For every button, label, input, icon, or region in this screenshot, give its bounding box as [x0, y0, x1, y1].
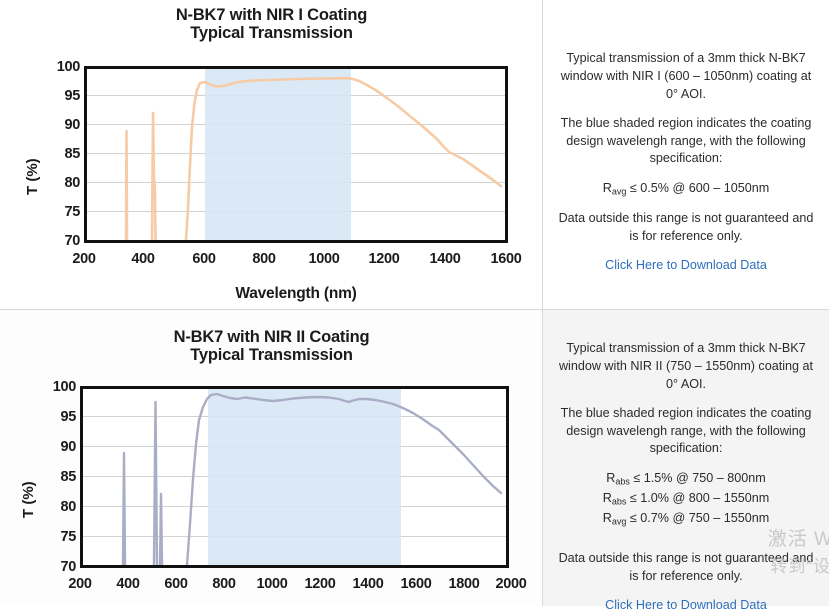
nir2-plot-area — [80, 386, 509, 568]
spec-list: Rabs ≤ 1.5% @ 750 – 800nm Rabs ≤ 1.0% @ … — [557, 469, 815, 528]
xtick-label: 400 — [121, 251, 165, 267]
spec-item: Ravg ≤ 0.5% @ 600 – 1050nm — [557, 179, 815, 199]
nir2-panel-row: N-BK7 with NIR II Coating Typical Transm… — [0, 310, 829, 606]
chart-title-line2: Typical Transmission — [0, 346, 543, 364]
ytick-label: 85 — [44, 146, 80, 162]
spec-value: ≤ 1.5% @ 750 – 800nm — [630, 471, 766, 485]
xtick-label: 1400 — [343, 576, 393, 592]
y-axis-label: T (%) — [24, 158, 41, 195]
xtick-label: 200 — [58, 576, 102, 592]
info-description: Typical transmission of a 3mm thick N-BK… — [557, 340, 815, 394]
nir1-transmission-curve — [87, 69, 505, 240]
spec-subscript: abs — [612, 496, 627, 506]
info-shade-explanation: The blue shaded region indicates the coa… — [557, 405, 815, 459]
xtick-label: 2000 — [486, 576, 536, 592]
ytick-label: 95 — [40, 409, 76, 425]
x-axis-label: Wavelength (nm) — [84, 285, 508, 303]
nir1-chart-panel: N-BK7 with NIR I Coating Typical Transmi… — [0, 0, 543, 310]
ytick-label: 80 — [44, 175, 80, 191]
download-data-link[interactable]: Click Here to Download Data — [605, 598, 767, 612]
ytick-label: 80 — [40, 499, 76, 515]
spec-subscript: avg — [612, 187, 627, 197]
ytick-label: 75 — [40, 529, 76, 545]
transmission-charts-page: N-BK7 with NIR I Coating Typical Transmi… — [0, 0, 829, 606]
xtick-label: 1200 — [295, 576, 345, 592]
ytick-label: 70 — [44, 233, 80, 249]
xtick-label: 1200 — [359, 251, 409, 267]
ytick-label: 85 — [40, 469, 76, 485]
y-axis-label: T (%) — [20, 481, 37, 518]
nir1-panel-row: N-BK7 with NIR I Coating Typical Transmi… — [0, 0, 829, 310]
ytick-label: 95 — [44, 88, 80, 104]
xtick-label: 1400 — [420, 251, 470, 267]
spec-item: Rabs ≤ 1.0% @ 800 – 1550nm — [557, 489, 815, 509]
spec-value: ≤ 1.0% @ 800 – 1550nm — [626, 491, 769, 505]
info-disclaimer: Data outside this range is not guarantee… — [557, 210, 815, 246]
info-shade-explanation: The blue shaded region indicates the coa… — [557, 115, 815, 169]
xtick-label: 1800 — [439, 576, 489, 592]
nir2-chart-panel: N-BK7 with NIR II Coating Typical Transm… — [0, 310, 543, 606]
spec-value: ≤ 0.7% @ 750 – 1550nm — [626, 511, 769, 525]
xtick-label: 800 — [202, 576, 246, 592]
ytick-label: 90 — [44, 117, 80, 133]
spec-subscript: abs — [615, 477, 630, 487]
xtick-label: 1000 — [247, 576, 297, 592]
xtick-label: 1600 — [481, 251, 531, 267]
info-description: Typical transmission of a 3mm thick N-BK… — [557, 50, 815, 104]
spec-symbol: R — [603, 181, 612, 195]
xtick-label: 800 — [242, 251, 286, 267]
xtick-label: 200 — [62, 251, 106, 267]
xtick-label: 1000 — [299, 251, 349, 267]
ytick-label: 100 — [40, 379, 76, 395]
chart-title-nir1: N-BK7 with NIR I Coating Typical Transmi… — [0, 6, 543, 43]
spec-value: ≤ 0.5% @ 600 – 1050nm — [626, 181, 769, 195]
xtick-label: 1600 — [391, 576, 441, 592]
nir2-info-panel: Typical transmission of a 3mm thick N-BK… — [543, 310, 829, 606]
ytick-label: 75 — [44, 204, 80, 220]
spec-item: Rabs ≤ 1.5% @ 750 – 800nm — [557, 469, 815, 489]
spec-list: Ravg ≤ 0.5% @ 600 – 1050nm — [557, 179, 815, 199]
spec-symbol: R — [603, 491, 612, 505]
chart-title-nir2: N-BK7 with NIR II Coating Typical Transm… — [0, 328, 543, 365]
spec-subscript: avg — [612, 516, 627, 526]
spec-symbol: R — [603, 511, 612, 525]
nir1-info-panel: Typical transmission of a 3mm thick N-BK… — [543, 0, 829, 310]
info-disclaimer: Data outside this range is not guarantee… — [557, 550, 815, 586]
xtick-label: 600 — [182, 251, 226, 267]
chart-title-line2: Typical Transmission — [0, 24, 543, 42]
spec-item: Ravg ≤ 0.7% @ 750 – 1550nm — [557, 509, 815, 529]
xtick-label: 600 — [154, 576, 198, 592]
ytick-label: 70 — [40, 559, 76, 575]
chart-title-line1: N-BK7 with NIR II Coating — [174, 328, 370, 346]
xtick-label: 400 — [106, 576, 150, 592]
ytick-label: 100 — [44, 59, 80, 75]
nir2-transmission-curve — [83, 389, 506, 565]
ytick-label: 90 — [40, 439, 76, 455]
download-data-link[interactable]: Click Here to Download Data — [605, 258, 767, 272]
nir1-plot-area — [84, 66, 508, 243]
spec-symbol: R — [606, 471, 615, 485]
chart-title-line1: N-BK7 with NIR I Coating — [176, 6, 367, 24]
